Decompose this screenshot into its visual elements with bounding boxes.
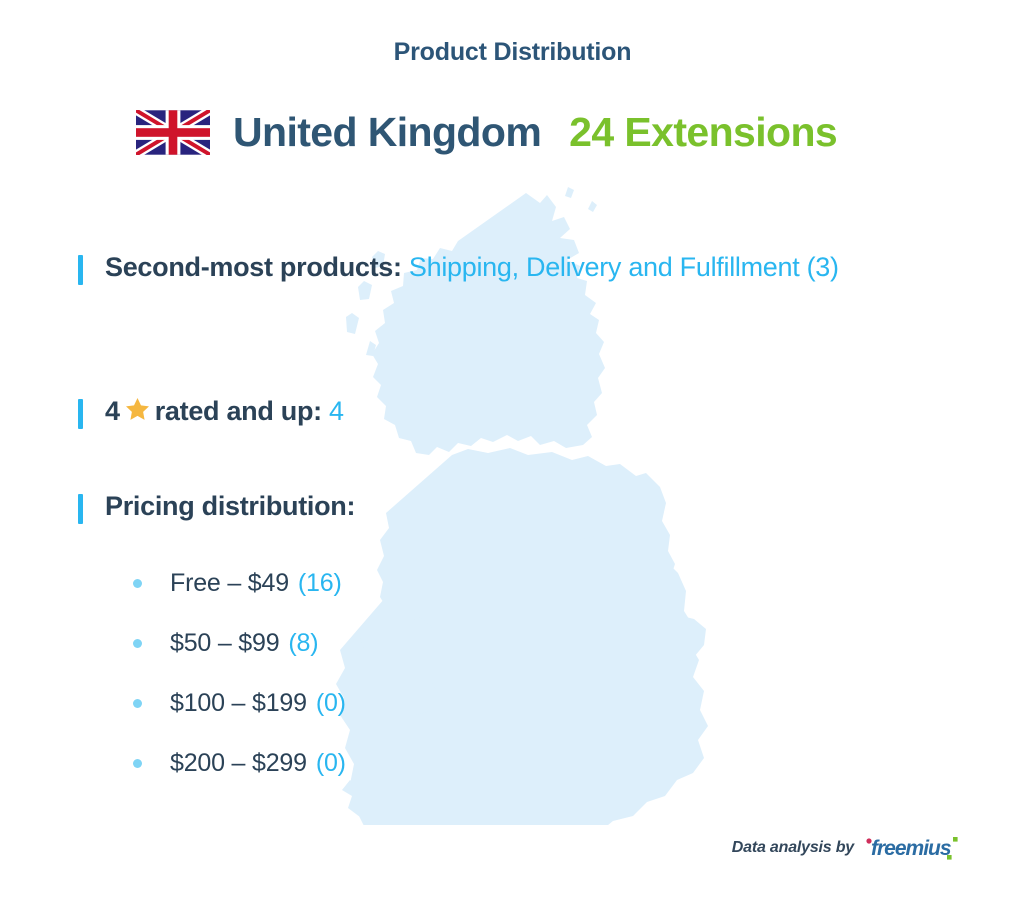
stat-second-most-products: Second-most products: Shipping, Delivery… <box>78 248 839 287</box>
pricing-distribution-list: Free – $49 (16) $50 – $99 (8) $100 – $19… <box>133 553 346 793</box>
bullet-icon <box>133 639 142 648</box>
freemius-logo-icon: freemius <box>863 833 967 863</box>
stat-second-most-text: Second-most products: Shipping, Delivery… <box>105 248 839 287</box>
price-count: (0) <box>316 749 346 778</box>
stat-rating-label: rated and up: <box>155 396 322 426</box>
stat-rating-text: 4rated and up: 4 <box>105 392 344 431</box>
stat-rating: 4rated and up: 4 <box>78 392 344 431</box>
footer-text: Data analysis by <box>732 839 854 857</box>
infographic-canvas: Product Distribution United Kingdom <box>0 0 1025 898</box>
stat-second-most-label: Second-most products: <box>105 252 402 282</box>
stat-rating-number: 4 <box>105 396 120 426</box>
extensions-count: 24 Extensions <box>569 112 837 153</box>
country-name: United Kingdom <box>233 112 541 153</box>
bullet-icon <box>133 699 142 708</box>
price-count: (0) <box>316 689 346 718</box>
stat-pricing-text: Pricing distribution: <box>105 487 355 526</box>
footer-attribution: Data analysis by freemius <box>732 833 967 863</box>
list-item: $200 – $299 (0) <box>133 733 346 793</box>
price-count: (8) <box>288 629 318 658</box>
country-header: United Kingdom 24 Extensions <box>136 110 837 155</box>
stat-pricing-label: Pricing distribution: <box>105 491 355 521</box>
stat-pricing-heading: Pricing distribution: <box>78 487 355 526</box>
list-item: Free – $49 (16) <box>133 553 346 613</box>
price-count: (16) <box>298 569 342 598</box>
bullet-icon <box>133 579 142 588</box>
price-range: $200 – $299 <box>170 749 307 778</box>
accent-bar-icon <box>78 399 83 429</box>
united-kingdom-flag-icon <box>136 110 210 155</box>
price-range: $50 – $99 <box>170 629 279 658</box>
stat-rating-value: 4 <box>329 396 344 426</box>
star-icon <box>124 396 151 423</box>
bullet-icon <box>133 759 142 768</box>
accent-bar-icon <box>78 494 83 524</box>
stat-second-most-value: Shipping, Delivery and Fulfillment (3) <box>409 252 839 282</box>
list-item: $50 – $99 (8) <box>133 613 346 673</box>
price-range: $100 – $199 <box>170 689 307 718</box>
svg-text:freemius: freemius <box>871 837 951 860</box>
accent-bar-icon <box>78 255 83 285</box>
list-item: $100 – $199 (0) <box>133 673 346 733</box>
price-range: Free – $49 <box>170 569 289 598</box>
page-title: Product Distribution <box>0 38 1025 67</box>
